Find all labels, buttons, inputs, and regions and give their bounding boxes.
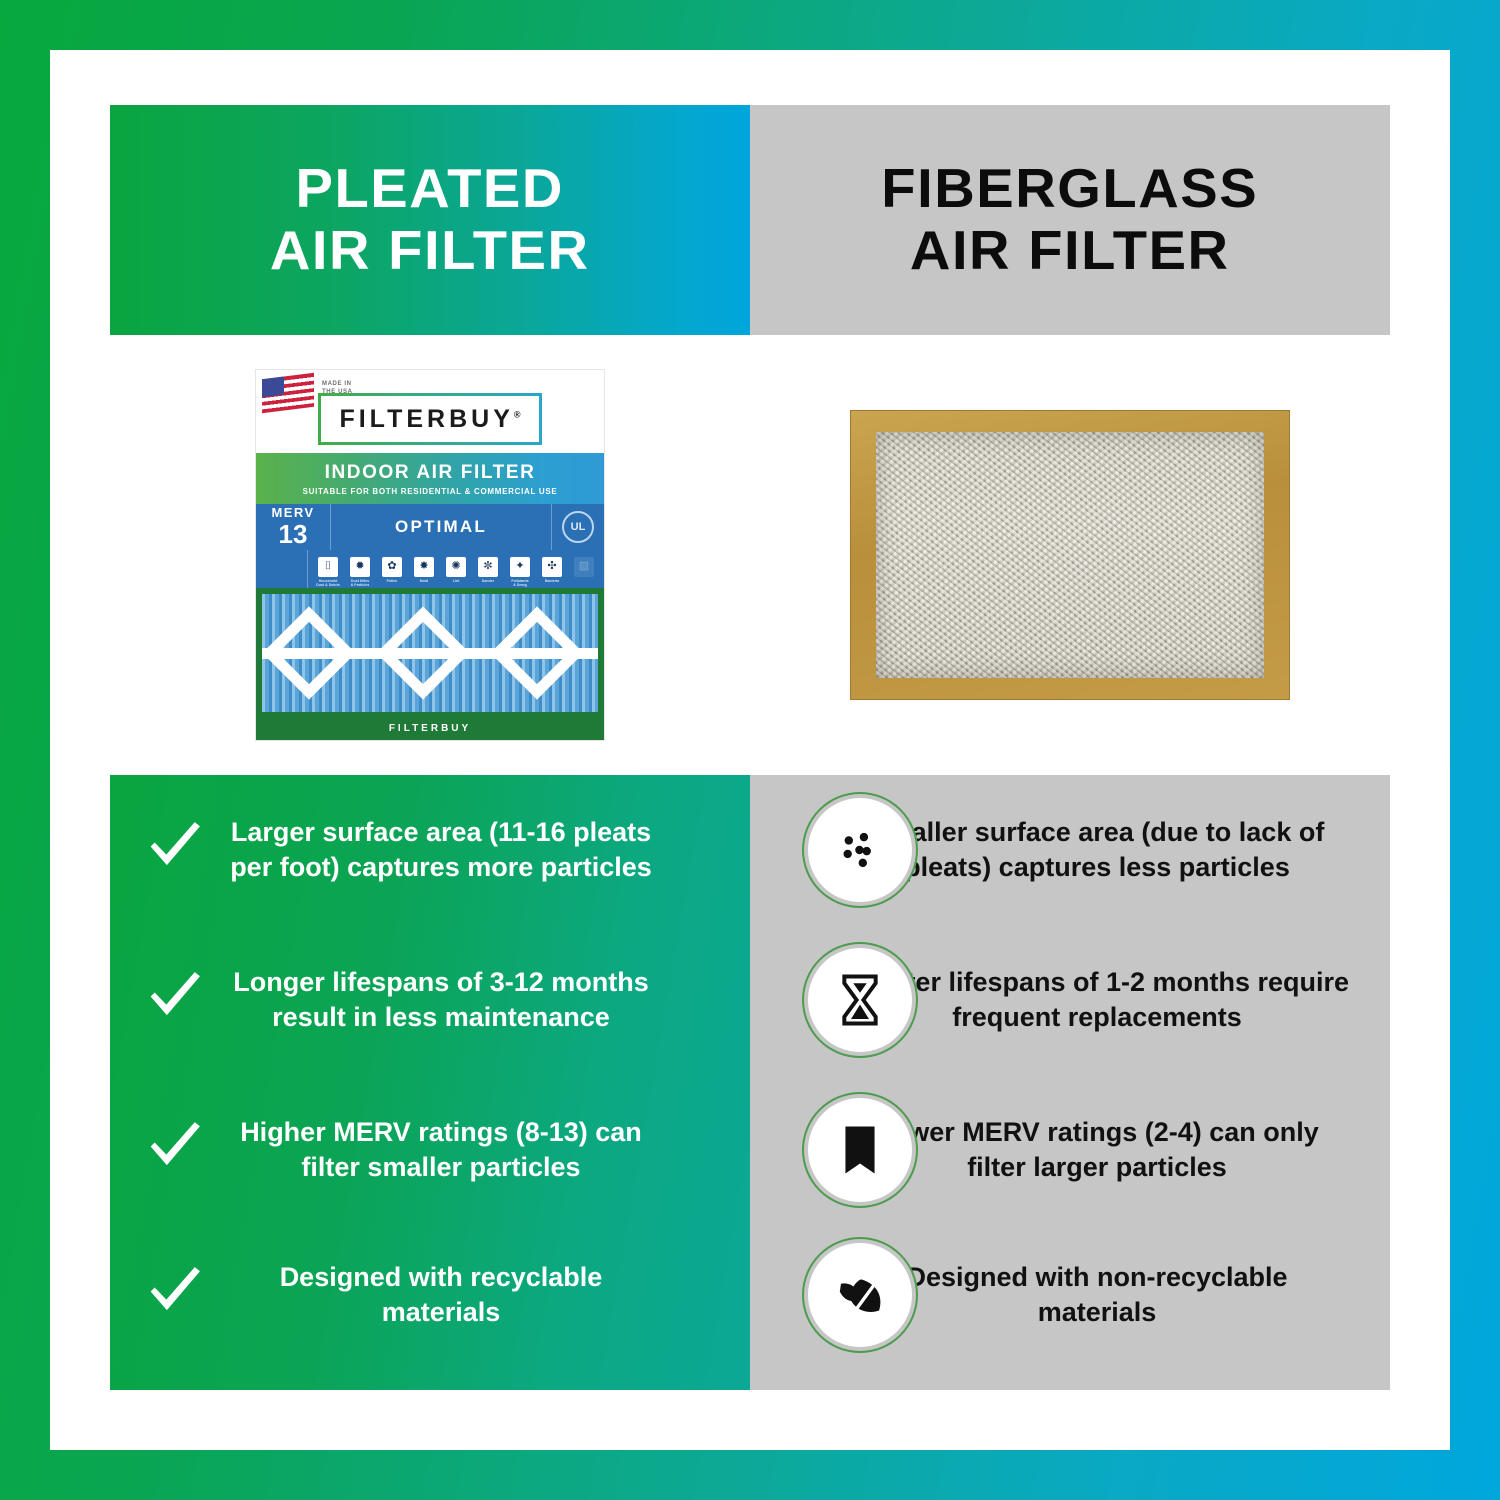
feature-icon-label: Dander bbox=[482, 579, 494, 583]
feature-icon-label: Bacteria bbox=[545, 579, 559, 583]
pleated-benefit-text: Designed with recyclable materials bbox=[224, 1260, 658, 1330]
grade-label: OPTIMAL bbox=[331, 504, 552, 550]
feature-icon-6: ✦Pollutants & Smog bbox=[505, 557, 535, 588]
merv-label: MERV bbox=[272, 506, 315, 519]
product-images-row: MADE IN THE USA FILTERBUY® INDOOR AIR FI… bbox=[110, 335, 1390, 775]
particles-icon bbox=[808, 798, 912, 902]
pleated-benefit-cell: Higher MERV ratings (8-13) can filter sm… bbox=[110, 1115, 750, 1185]
fiberglass-drawback-text: Smaller surface area (due to lack of ple… bbox=[844, 815, 1350, 885]
feature-icon-1: ✹Dust Mites & Particles bbox=[345, 557, 375, 588]
feature-icon-glyph: ✿ bbox=[382, 557, 402, 577]
ul-certification-icon: UL bbox=[562, 511, 594, 543]
pleat-brand-label: FILTERBUY bbox=[256, 723, 604, 734]
bookmark-icon bbox=[808, 1098, 912, 1202]
fiberglass-drawback-text: Designed with non-recyclable materials bbox=[844, 1260, 1350, 1330]
fiberglass-drawback-text: Shorter lifespans of 1-2 months require … bbox=[844, 965, 1350, 1035]
comparison-row: Larger surface area (11-16 pleats per fo… bbox=[110, 780, 1390, 920]
fiberglass-filter-image bbox=[850, 410, 1290, 700]
pleated-benefit-cell: Designed with recyclable materials bbox=[110, 1260, 750, 1330]
certification-cell: UL bbox=[552, 504, 604, 550]
feature-icon-0: ⌷Household Dust & Debris bbox=[313, 557, 343, 588]
feature-icon-glyph: ✣ bbox=[542, 557, 562, 577]
pleated-benefit-text: Longer lifespans of 3-12 months result i… bbox=[224, 965, 658, 1035]
header-pleated-title: PLEATED AIR FILTER bbox=[270, 158, 590, 281]
box-spec-panel: MERV 13 OPTIMAL UL ⌷Household Dust & Deb… bbox=[256, 504, 604, 588]
feature-icon-glyph: ⌷ bbox=[318, 557, 338, 577]
hourglass-icon bbox=[808, 948, 912, 1052]
feature-icon-5: ✼Dander bbox=[473, 557, 503, 583]
header-pleated-panel: PLEATED AIR FILTER bbox=[110, 105, 750, 335]
merv-column-spacer bbox=[256, 550, 308, 588]
pleated-benefit-text: Larger surface area (11-16 pleats per fo… bbox=[224, 815, 658, 885]
checkmark-icon bbox=[144, 1266, 206, 1324]
feature-icon-label: Pollen bbox=[387, 579, 398, 583]
fiberglass-product-cell bbox=[750, 335, 1390, 775]
feature-icon-label: Lint bbox=[453, 579, 460, 583]
feature-icon-glyph: ✦ bbox=[510, 557, 530, 577]
support-diamond bbox=[262, 606, 355, 699]
pleated-benefit-cell: Longer lifespans of 3-12 months result i… bbox=[110, 965, 750, 1035]
feature-icon-7: ✣Bacteria bbox=[537, 557, 567, 583]
comparison-rows: Larger surface area (11-16 pleats per fo… bbox=[110, 775, 1390, 1390]
pleated-media-view: FILTERBUY bbox=[256, 588, 604, 740]
header-fiberglass-title: FIBERGLASS AIR FILTER bbox=[882, 158, 1259, 281]
made-in-usa-label: MADE IN THE USA bbox=[322, 380, 353, 396]
pleated-benefit-text: Higher MERV ratings (8-13) can filter sm… bbox=[224, 1115, 658, 1185]
fiberglass-mesh bbox=[876, 432, 1264, 678]
feature-icon-4: ✺Lint bbox=[441, 557, 471, 583]
box-product-band: INDOOR AIR FILTER SUITABLE FOR BOTH RESI… bbox=[256, 453, 604, 503]
page-canvas: PLEATED AIR FILTER FIBERGLASS AIR FILTER… bbox=[50, 50, 1450, 1450]
box-spec-top-row: MERV 13 OPTIMAL UL bbox=[256, 504, 604, 550]
support-diamond bbox=[376, 606, 469, 699]
merv-value: 13 bbox=[279, 521, 308, 547]
checkmark-icon bbox=[144, 1121, 206, 1179]
filtration-feature-icons: ⌷Household Dust & Debris✹Dust Mites & Pa… bbox=[308, 550, 604, 588]
outer-gradient-frame: PLEATED AIR FILTER FIBERGLASS AIR FILTER… bbox=[0, 0, 1500, 1500]
feature-icon-2: ✿Pollen bbox=[377, 557, 407, 583]
checkmark-icon bbox=[144, 821, 206, 879]
feature-icon-8: ▨ bbox=[569, 557, 599, 579]
brand-name-text: FILTERBUY bbox=[339, 405, 513, 433]
box-band-title: INDOOR AIR FILTER bbox=[325, 462, 536, 484]
header-fiberglass-panel: FIBERGLASS AIR FILTER bbox=[750, 105, 1390, 335]
support-diamond bbox=[490, 606, 583, 699]
merv-badge: MERV 13 bbox=[256, 504, 331, 550]
feature-icon-glyph: ✹ bbox=[350, 557, 370, 577]
comparison-row: Longer lifespans of 3-12 months result i… bbox=[110, 930, 1390, 1070]
filterbuy-box-image: MADE IN THE USA FILTERBUY® INDOOR AIR FI… bbox=[256, 370, 604, 740]
feature-icon-glyph: ✸ bbox=[414, 557, 434, 577]
box-brand-header: MADE IN THE USA FILTERBUY® bbox=[256, 370, 604, 453]
brand-name: FILTERBUY® bbox=[339, 405, 520, 434]
comparison-row: Designed with recyclable materialsDesign… bbox=[110, 1225, 1390, 1365]
brand-registered-mark: ® bbox=[514, 409, 521, 419]
pleat-support-grid bbox=[262, 594, 598, 712]
feature-icon-label: Household Dust & Debris bbox=[316, 579, 340, 588]
checkmark-icon bbox=[144, 971, 206, 1029]
feature-icon-glyph: ▨ bbox=[574, 557, 594, 577]
pleated-product-cell: MADE IN THE USA FILTERBUY® INDOOR AIR FI… bbox=[110, 335, 750, 775]
us-flag-icon bbox=[262, 373, 314, 413]
feature-icon-label: Pollutants & Smog bbox=[511, 579, 528, 588]
feature-icon-label: Mold bbox=[420, 579, 428, 583]
leaf-icon bbox=[808, 1243, 912, 1347]
box-band-subtitle: SUITABLE FOR BOTH RESIDENTIAL & COMMERCI… bbox=[303, 487, 558, 496]
feature-icon-label: Dust Mites & Particles bbox=[351, 579, 370, 588]
fiberglass-drawback-text: Lower MERV ratings (2-4) can only filter… bbox=[844, 1115, 1350, 1185]
feature-icon-glyph: ✺ bbox=[446, 557, 466, 577]
brand-logo-frame: FILTERBUY® bbox=[318, 393, 541, 445]
pleated-benefit-cell: Larger surface area (11-16 pleats per fo… bbox=[110, 815, 750, 885]
comparison-row: Higher MERV ratings (8-13) can filter sm… bbox=[110, 1080, 1390, 1220]
box-spec-icon-row: ⌷Household Dust & Debris✹Dust Mites & Pa… bbox=[256, 550, 604, 588]
feature-icon-3: ✸Mold bbox=[409, 557, 439, 583]
feature-icon-glyph: ✼ bbox=[478, 557, 498, 577]
comparison-body: Larger surface area (11-16 pleats per fo… bbox=[110, 775, 1390, 1390]
comparison-header: PLEATED AIR FILTER FIBERGLASS AIR FILTER bbox=[110, 105, 1390, 335]
